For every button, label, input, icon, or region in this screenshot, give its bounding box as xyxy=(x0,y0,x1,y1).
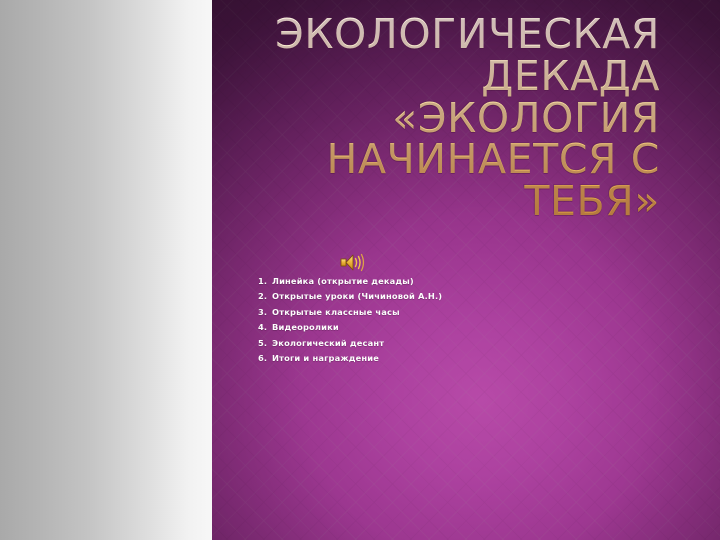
list-item-label: Открытые классные часы xyxy=(272,307,400,317)
list-item: 2. Открытые уроки (Чичиновой А.Н.) xyxy=(258,289,588,304)
title-line-5: тебя» xyxy=(524,177,660,225)
list-item: 3. Открытые классные часы xyxy=(258,305,588,320)
title-line-4: начинается с xyxy=(327,135,660,183)
list-item-number: 5. xyxy=(258,336,269,351)
list-item: 5. Экологический десант xyxy=(258,336,588,351)
list-item-label: Итоги и награждение xyxy=(272,353,379,363)
speaker-sound-icon[interactable] xyxy=(338,250,366,275)
title-line-1: Экологическая xyxy=(275,10,660,58)
list-item: 6. Итоги и награждение xyxy=(258,351,588,366)
list-item-number: 2. xyxy=(258,289,269,304)
presentation-slide: Экологическая декада «Экология начинаетс… xyxy=(0,0,720,540)
title-line-2: декада xyxy=(481,52,660,100)
list-item-label: Линейка (открытие декады) xyxy=(272,276,414,286)
list-item-number: 1. xyxy=(258,274,269,289)
title-block: Экологическая декада «Экология начинаетс… xyxy=(230,14,660,223)
list-item-number: 4. xyxy=(258,320,269,335)
list-item-number: 6. xyxy=(258,351,269,366)
list-item: 1. Линейка (открытие декады) xyxy=(258,274,588,289)
left-gray-panel xyxy=(0,0,212,540)
list-item-label: Видеоролики xyxy=(272,322,339,332)
agenda-list: 1. Линейка (открытие декады) 2. Открытые… xyxy=(258,274,588,366)
list-item-label: Открытые уроки (Чичиновой А.Н.) xyxy=(272,291,442,301)
slide-title: Экологическая декада «Экология начинаетс… xyxy=(230,14,660,223)
list-item: 4. Видеоролики xyxy=(258,320,588,335)
slide-content-area: Экологическая декада «Экология начинаетс… xyxy=(212,0,720,540)
list-item-label: Экологический десант xyxy=(272,338,384,348)
title-line-3: «Экология xyxy=(392,94,660,142)
list-item-number: 3. xyxy=(258,305,269,320)
